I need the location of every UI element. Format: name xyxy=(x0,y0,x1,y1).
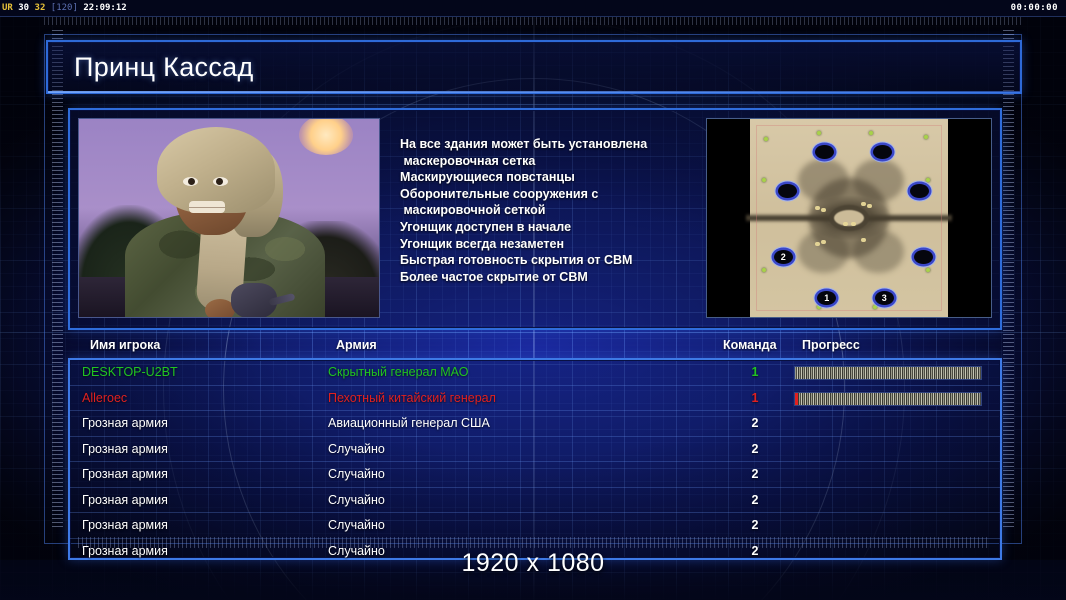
fps-prefix: UR xyxy=(2,3,13,13)
progress-bar xyxy=(794,366,982,380)
ruler-top xyxy=(44,17,1022,25)
top-status-bar: UR 30 32 [120] 22:09:12 00:00:00 xyxy=(0,0,1066,16)
fps-value-gold: 32 xyxy=(35,3,46,13)
description-line: Более частое скрытие от СВМ xyxy=(400,269,700,286)
cell-team: 2 xyxy=(742,513,768,538)
ruler-right xyxy=(1003,30,1014,530)
cell-team: 2 xyxy=(742,462,768,487)
cell-army: Случайно xyxy=(328,488,385,513)
description-line: Оборонительные сооружения с xyxy=(400,186,700,203)
column-header-progress: Прогресс xyxy=(802,338,860,352)
cell-team: 1 xyxy=(742,360,768,385)
ruler-left xyxy=(52,30,63,530)
table-row[interactable]: Грозная армияСлучайно2 xyxy=(70,488,1000,514)
title-panel: Принц Кассад xyxy=(46,40,1022,94)
title-underline xyxy=(48,91,1020,93)
cell-team: 2 xyxy=(742,411,768,436)
description-line: Угонщик доступен в начале xyxy=(400,219,700,236)
description-line: Угонщик всегда незаметен xyxy=(400,236,700,253)
description-line: Маскирующиеся повстанцы xyxy=(400,169,700,186)
cell-player-name: Грозная армия xyxy=(82,462,168,487)
minimap-start-position xyxy=(914,250,933,264)
minimap-panel: 213 xyxy=(706,118,992,318)
progress-bar xyxy=(794,392,982,406)
fps-bracket: [120] xyxy=(51,3,78,13)
portrait-pupil-right xyxy=(216,178,223,185)
cell-army: Пехотный китайский генерал xyxy=(328,386,496,411)
progress-bar-fill xyxy=(795,393,981,405)
column-header-army: Армия xyxy=(336,338,377,352)
minimap-start-position: 3 xyxy=(875,291,894,305)
cell-army: Скрытный генерал МАО xyxy=(328,360,468,385)
player-table: DESKTOP-U2BTСкрытный генерал МАО1Alleroe… xyxy=(68,358,1002,560)
minimap-image: 213 xyxy=(750,119,948,317)
cell-team: 2 xyxy=(742,488,768,513)
cell-player-name: Грозная армия xyxy=(82,437,168,462)
player-table-header: Имя игрокаАрмияКомандаПрогресс xyxy=(78,338,998,356)
minimap-start-position: 2 xyxy=(774,250,793,264)
cell-player-name: DESKTOP-U2BT xyxy=(82,360,178,385)
general-description: На все здания может быть установлена мас… xyxy=(400,136,700,285)
cell-player-name: Грозная армия xyxy=(82,488,168,513)
table-row[interactable]: AlleroecПехотный китайский генерал1 xyxy=(70,386,1000,412)
cell-player-name: Alleroec xyxy=(82,386,127,411)
cell-team: 2 xyxy=(742,437,768,462)
fps-value-white: 30 xyxy=(18,3,29,13)
system-clock: 22:09:12 xyxy=(83,3,126,13)
info-panel: На все здания может быть установлена мас… xyxy=(68,108,1002,330)
description-line: маскеровочная сетка xyxy=(400,153,700,170)
description-line: маскировочной сеткой xyxy=(400,202,700,219)
table-row[interactable]: Грозная армияСлучайно2 xyxy=(70,437,1000,463)
minimap-start-position xyxy=(815,145,834,159)
general-portrait xyxy=(78,118,380,318)
cell-army: Авиационный генерал США xyxy=(328,411,490,436)
page-title: Принц Кассад xyxy=(74,52,254,83)
portrait-pupil-left xyxy=(188,178,195,185)
cell-progress xyxy=(794,366,980,378)
table-row[interactable]: Грозная армияСлучайно2 xyxy=(70,462,1000,488)
elapsed-timer: 00:00:00 xyxy=(1011,0,1058,16)
portrait-mouth xyxy=(189,201,225,213)
resolution-label: 1920 x 1080 xyxy=(0,549,1066,578)
table-row[interactable]: Грозная армияАвиационный генерал США2 xyxy=(70,411,1000,437)
cell-army: Случайно xyxy=(328,462,385,487)
table-row[interactable]: DESKTOP-U2BTСкрытный генерал МАО1 xyxy=(70,360,1000,386)
minimap-start-position xyxy=(873,145,892,159)
minimap-boundary xyxy=(756,125,942,311)
fps-readout: UR 30 32 [120] 22:09:12 xyxy=(2,0,127,16)
cell-army: Случайно xyxy=(328,437,385,462)
progress-bar-marker xyxy=(795,393,798,405)
description-line: Быстрая готовность скрытия от СВМ xyxy=(400,252,700,269)
column-header-name: Имя игрока xyxy=(90,338,160,352)
description-line: На все здания может быть установлена xyxy=(400,136,700,153)
cell-team: 1 xyxy=(742,386,768,411)
cell-player-name: Грозная армия xyxy=(82,411,168,436)
cell-army: Случайно xyxy=(328,513,385,538)
progress-bar-fill xyxy=(795,367,981,379)
column-header-team: Команда xyxy=(723,338,777,352)
table-row[interactable]: Грозная армияСлучайно2 xyxy=(70,513,1000,539)
cell-player-name: Грозная армия xyxy=(82,513,168,538)
cell-progress xyxy=(794,392,980,404)
